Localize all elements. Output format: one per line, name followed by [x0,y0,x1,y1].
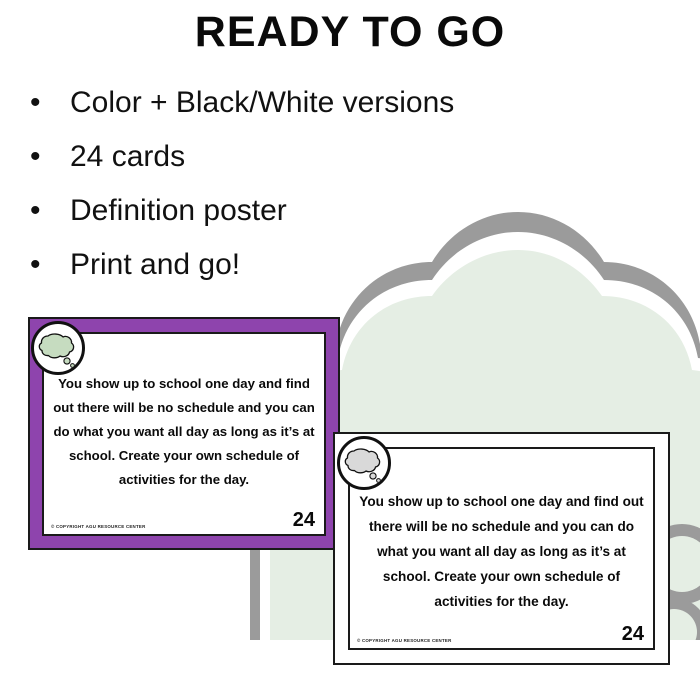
page-title: READY TO GO [0,8,700,57]
bullet-icon: • [30,130,41,184]
task-card-color[interactable]: You show up to school one day and find o… [28,317,340,550]
card-text: You show up to school one day and find o… [53,372,315,492]
thought-bubble-icon [337,436,391,490]
list-item-label: Print and go! [70,248,240,281]
list-item: • Color + Black/White versions [22,76,492,130]
bullet-icon: • [30,76,41,130]
list-item-label: 24 cards [70,140,185,173]
task-card-blackwhite[interactable]: You show up to school one day and find o… [333,432,670,665]
card-copyright: © COPYRIGHT AGU RESOURCE CENTER [357,638,452,643]
card-copyright: © COPYRIGHT AGU RESOURCE CENTER [51,524,146,529]
card-number: 24 [293,509,315,532]
list-item-label: Color + Black/White versions [70,86,454,119]
card-inner: You show up to school one day and find o… [42,332,326,536]
thought-bubble-icon [31,321,85,375]
card-text: You show up to school one day and find o… [359,489,644,614]
card-number: 24 [622,623,644,646]
slide-canvas: READY TO GO • Color + Black/White versio… [0,0,700,700]
card-inner: You show up to school one day and find o… [348,447,655,650]
bullet-icon: • [30,238,41,292]
bullet-icon: • [30,184,41,238]
